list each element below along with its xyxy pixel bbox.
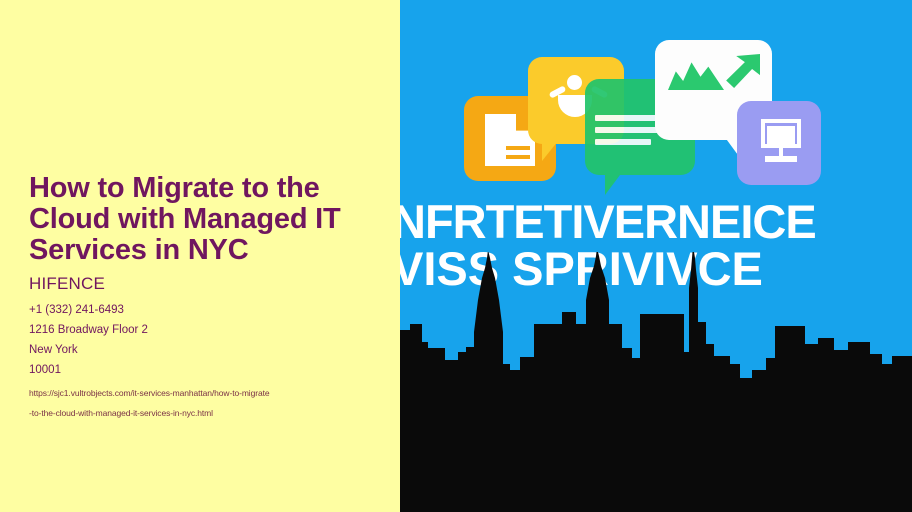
url-line-2: -to-the-cloud-with-managed-it-services-i… [29, 403, 369, 423]
brand-name: HIFENCE [29, 274, 105, 293]
nyc-skyline-silhouette [400, 252, 912, 512]
contact-details: +1 (332) 241-6493 1216 Broadway Floor 2 … [29, 300, 369, 380]
speech-tail [542, 141, 558, 161]
promo-banner: How to Migrate to the Cloud with Managed… [0, 0, 912, 512]
info-panel: How to Migrate to the Cloud with Managed… [0, 0, 400, 512]
contact-city: New York [29, 340, 369, 360]
url-line-1: https://sjc1.vultrobjects.com/it-service… [29, 383, 369, 403]
page-title: How to Migrate to the Cloud with Managed… [29, 173, 374, 266]
overlay-headline-line-1: NFRTETIVERNEICE [400, 198, 912, 245]
purple-monitor-card [737, 101, 821, 185]
contact-street: 1216 Broadway Floor 2 [29, 320, 369, 340]
contact-zip: 10001 [29, 360, 369, 380]
source-url[interactable]: https://sjc1.vultrobjects.com/it-service… [29, 383, 369, 423]
speech-tail [605, 171, 623, 195]
hero-illustration: NFRTETIVERNEICE VISS SPRIVIVCE [400, 0, 912, 512]
contact-phone: +1 (332) 241-6493 [29, 300, 369, 320]
chart-arrow-icon [668, 54, 756, 94]
monitor-icon [757, 119, 805, 167]
